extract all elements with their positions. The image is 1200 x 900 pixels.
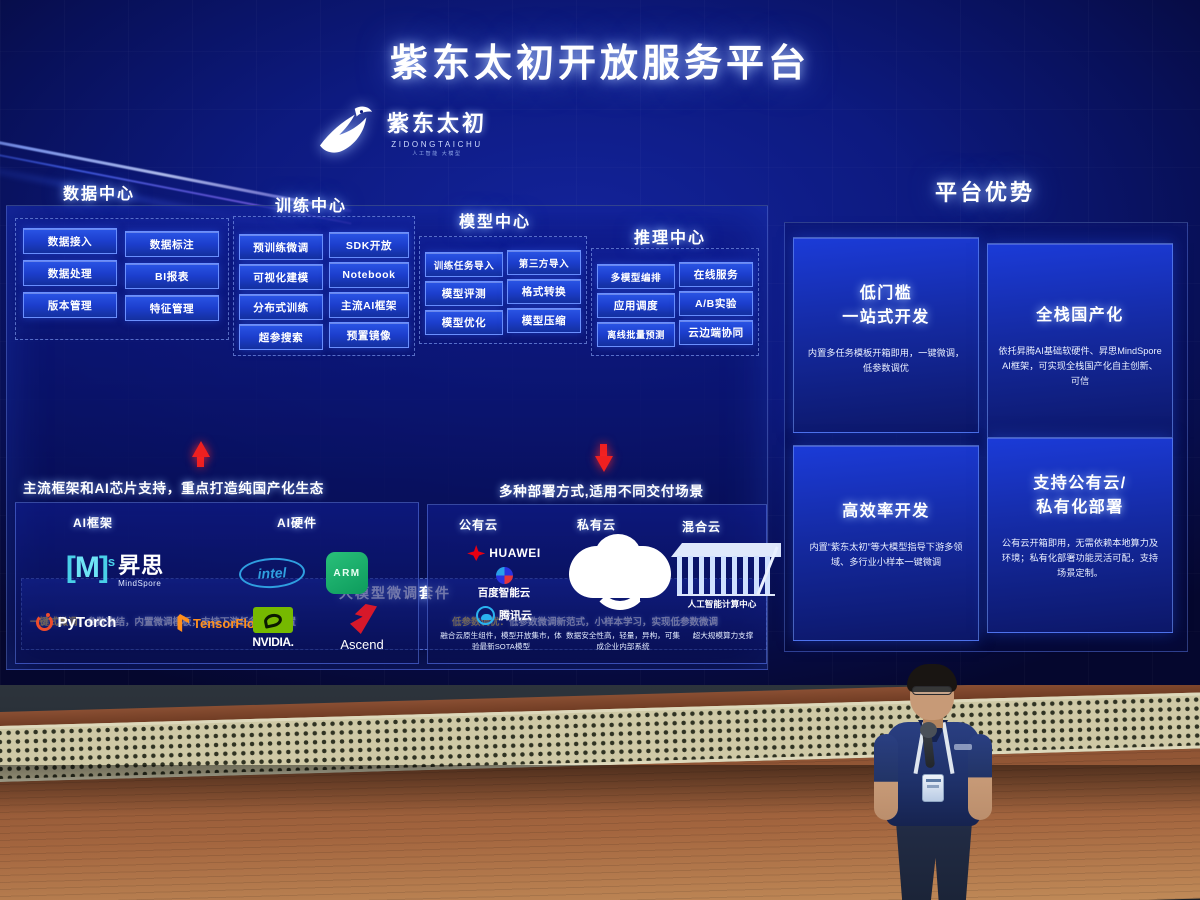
baidu-mark-icon [496, 567, 513, 584]
nvidia-label: NVIDIA. [252, 635, 293, 649]
column-heading-ai-hardware: AI硬件 [277, 514, 317, 531]
led-screen: 紫东太初开放服务平台 紫东太初 ZIDONGTAICHU 人工智能 大模型 数据… [0, 0, 1200, 690]
pytorch-label: PyTorch [58, 614, 117, 631]
stage-area [0, 685, 1200, 900]
chip-train-task-import[interactable]: 训练任务导入 [425, 252, 503, 277]
advantage-card-high-efficiency[interactable]: 高效率开发 内置“紫东太初”等大模型指导下游多领域、多行业小样本一键微调 [793, 445, 979, 641]
chip-bi-report[interactable]: BI报表 [125, 263, 219, 289]
column-heading-ai-framework: AI框架 [73, 514, 113, 531]
advantage-desc-full-stack: 依托昇腾AI基础软硬件、昇思MindSpore AI框架，可实现全栈国产化自主创… [998, 344, 1162, 390]
chip-mainstream-ai-fw[interactable]: 主流AI框架 [329, 292, 409, 318]
advantage-desc-high-efficiency: 内置“紫东太初”等大模型指导下游多领域、多行业小样本一键微调 [804, 540, 968, 570]
logo-ascend: Ascend [319, 602, 405, 654]
ascend-label: Ascend [340, 637, 383, 652]
logo-tencent-cloud: 腾讯云 [449, 604, 559, 626]
chip-app-scheduling[interactable]: 应用调度 [597, 293, 675, 318]
eco-heading-deployment: 多种部署方式,适用不同交付场景 [499, 480, 704, 500]
page-title: 紫东太初开放服务平台 [0, 32, 1200, 87]
baidu-cloud-label: 百度智能云 [478, 585, 531, 600]
chip-model-eval[interactable]: 模型评测 [425, 281, 503, 306]
smiling-cloud-icon [561, 540, 679, 618]
datacenter-building-icon [671, 543, 781, 597]
arrow-down-icon [595, 456, 613, 472]
presenter-speaker [866, 662, 1016, 900]
presenter-shirt-logo [954, 744, 972, 750]
advantage-title-low-barrier: 低门槛 一站式开发 [842, 282, 930, 330]
note-hybrid-cloud: 超大规模算力支撑 [667, 630, 779, 641]
chip-visual-modeling[interactable]: 可视化建模 [239, 264, 323, 290]
logo-huawei: HUAWEI [449, 542, 559, 564]
group-title-data-center: 数据中心 [63, 180, 135, 204]
chip-ab-test[interactable]: A/B实验 [679, 291, 753, 316]
brand-tagline: 人工智能 大模型 [412, 150, 461, 157]
intel-label: intel [238, 556, 305, 589]
logo-arm: ARM [317, 550, 377, 596]
chip-hyperparam-search[interactable]: 超参搜索 [239, 324, 323, 350]
stage-floor-shadow [0, 765, 1200, 815]
tencent-cloud-label: 腾讯云 [499, 607, 532, 623]
note-private-cloud: 数据安全性高，轻量，异构，可集成企业内部系统 [563, 630, 683, 652]
advantage-title-high-efficiency: 高效率开发 [842, 500, 930, 524]
nvidia-eye-icon [253, 607, 293, 633]
logo-pytorch: PyTorch [11, 604, 141, 640]
pytorch-flame-icon [36, 614, 53, 631]
chip-preset-image[interactable]: 预置镜像 [329, 322, 409, 348]
ascend-mark-icon [347, 604, 377, 634]
advantages-title: 平台优势 [780, 175, 1190, 207]
chip-sdk-open[interactable]: SDK开放 [329, 232, 409, 258]
chip-pretrain-finetune[interactable]: 预训练微调 [239, 234, 323, 260]
logo-mindspore: [M]s 昇思 MindSpore [35, 544, 195, 592]
chip-format-convert[interactable]: 格式转换 [507, 279, 581, 304]
chip-distributed-train[interactable]: 分布式训练 [239, 294, 323, 320]
group-title-inference-center: 推理中心 [634, 224, 706, 248]
caption-hybrid-cloud: 人工智能计算中心 [663, 598, 781, 610]
chip-multimodel-orchestration[interactable]: 多模型编排 [597, 264, 675, 289]
column-heading-hybrid-cloud: 混合云 [682, 518, 721, 535]
tensorflow-mark-icon [171, 614, 189, 632]
presenter-left-arm [874, 734, 898, 820]
eco-heading-frameworks: 主流框架和AI芯片支持，重点打造纯国产化生态 [23, 477, 324, 497]
chip-data-process[interactable]: 数据处理 [23, 260, 117, 286]
advantage-card-cloud-deployment[interactable]: 支持公有云/ 私有化部署 公有云开箱即用，无需依赖本地算力及环境；私有化部署功能… [987, 437, 1173, 633]
huawei-label: HUAWEI [489, 546, 541, 560]
logo-baidu-cloud: 百度智能云 [449, 564, 559, 602]
logo-intel: intel [229, 554, 315, 592]
icon-hybrid-cloud-datacenter [667, 542, 785, 598]
tencent-cloud-icon [476, 606, 495, 625]
mindspore-name-en: MindSpore [118, 579, 161, 588]
chip-notebook[interactable]: Notebook [329, 262, 409, 288]
column-heading-private-cloud: 私有云 [577, 516, 616, 533]
mindspore-bracket-mark: [M]s [66, 551, 114, 585]
arm-label: ARM [333, 568, 360, 579]
microphone-head-icon [920, 722, 937, 738]
advantage-desc-cloud-deployment: 公有云开箱即用，无需依赖本地算力及环境；私有化部署功能灵活可配，支持场景定制。 [998, 536, 1162, 582]
chip-offline-batch-predict[interactable]: 离线批量预测 [597, 322, 675, 347]
chip-online-service[interactable]: 在线服务 [679, 262, 753, 287]
advantage-title-cloud-deployment: 支持公有云/ 私有化部署 [1033, 472, 1126, 520]
group-title-training-center: 训练中心 [275, 192, 347, 216]
brand-logo: 紫东太初 ZIDONGTAICHU 人工智能 大模型 [316, 103, 487, 159]
presenter-legs [896, 822, 972, 900]
advantage-title-full-stack: 全栈国产化 [1036, 304, 1124, 328]
advantage-card-low-barrier[interactable]: 低门槛 一站式开发 内置多任务模板开箱即用，一键微调，低参数调优 [793, 237, 979, 433]
chip-thirdparty-import[interactable]: 第三方导入 [507, 250, 581, 275]
column-heading-public-cloud: 公有云 [459, 516, 498, 533]
chip-model-compress[interactable]: 模型压缩 [507, 308, 581, 333]
presenter-glasses [912, 686, 952, 695]
architecture-board: 数据中心 训练中心 模型中心 推理中心 数据接入 数据标注 数据处理 BI报表 … [6, 205, 768, 670]
zidongtaichu-bird-icon [316, 103, 378, 159]
chip-cloud-edge-device[interactable]: 云边端协同 [679, 320, 753, 345]
presenter-badge [922, 774, 944, 802]
logo-nvidia: NVIDIA. [225, 604, 321, 652]
group-title-model-center: 模型中心 [459, 208, 531, 232]
brand-name-en: ZIDONGTAICHU [391, 140, 483, 149]
advantage-card-full-stack[interactable]: 全栈国产化 依托昇腾AI基础软硬件、昇思MindSpore AI框架，可实现全栈… [987, 243, 1173, 439]
huawei-petal-icon [467, 545, 485, 561]
note-public-cloud: 融合云原生组件，模型开放集市，体验最新SOTA模型 [439, 630, 563, 652]
arrow-up-icon [192, 441, 210, 457]
chip-data-label[interactable]: 数据标注 [125, 231, 219, 257]
chip-data-ingest[interactable]: 数据接入 [23, 228, 117, 254]
chip-model-optimize[interactable]: 模型优化 [425, 310, 503, 335]
advantages-board: 低门槛 一站式开发 内置多任务模板开箱即用，一键微调，低参数调优 全栈国产化 依… [784, 222, 1188, 652]
mindspore-name-cn: 昇思 [118, 548, 164, 580]
chip-version-mgmt[interactable]: 版本管理 [23, 292, 117, 318]
brand-name-cn: 紫东太初 [387, 106, 487, 138]
chip-feature-mgmt[interactable]: 特征管理 [125, 295, 219, 321]
advantage-desc-low-barrier: 内置多任务模板开箱即用，一键微调，低参数调优 [804, 346, 968, 376]
